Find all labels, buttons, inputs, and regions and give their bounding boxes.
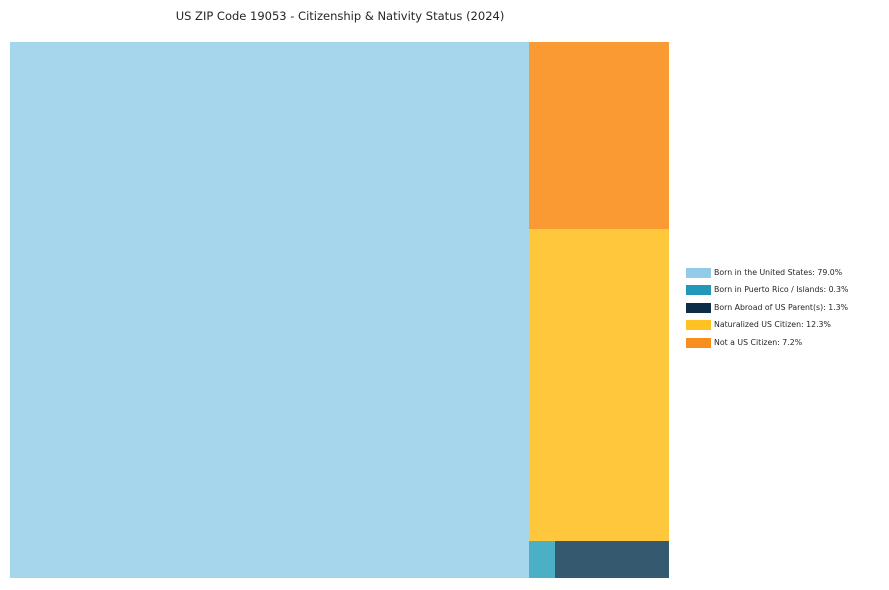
legend-item-naturalized-us-citizen[interactable]: Naturalized US Citizen: 12.3% [686, 317, 882, 335]
legend-item-label: Born in the United States: 79.0% [714, 268, 842, 278]
treemap-tile-not-a-us-citizen[interactable] [529, 42, 669, 229]
legend-swatch-icon [686, 320, 711, 330]
treemap-tile-born-in-puerto-rico-islands[interactable] [529, 541, 555, 578]
chart-legend: Born in the United States: 79.0% Born in… [686, 264, 882, 352]
legend-item-born-in-the-united-states[interactable]: Born in the United States: 79.0% [686, 264, 882, 282]
legend-swatch-icon [686, 303, 711, 313]
legend-item-label: Born Abroad of US Parent(s): 1.3% [714, 303, 848, 313]
legend-item-born-abroad-of-us-parents[interactable]: Born Abroad of US Parent(s): 1.3% [686, 299, 882, 317]
legend-swatch-icon [686, 338, 711, 348]
legend-item-label: Born in Puerto Rico / Islands: 0.3% [714, 285, 848, 295]
chart-title: US ZIP Code 19053 - Citizenship & Nativi… [0, 9, 680, 23]
treemap-plot-area [10, 42, 669, 578]
legend-item-born-in-puerto-rico-islands[interactable]: Born in Puerto Rico / Islands: 0.3% [686, 282, 882, 300]
treemap-tile-born-abroad-of-us-parents[interactable] [555, 541, 669, 578]
treemap-tile-naturalized-us-citizen[interactable] [529, 229, 669, 541]
legend-item-label: Not a US Citizen: 7.2% [714, 338, 802, 348]
legend-item-label: Naturalized US Citizen: 12.3% [714, 320, 831, 330]
legend-swatch-icon [686, 268, 711, 278]
legend-swatch-icon [686, 285, 711, 295]
treemap-tile-born-in-the-united-states[interactable] [10, 42, 529, 578]
legend-item-not-a-us-citizen[interactable]: Not a US Citizen: 7.2% [686, 334, 882, 352]
chart-figure: US ZIP Code 19053 - Citizenship & Nativi… [0, 0, 889, 590]
